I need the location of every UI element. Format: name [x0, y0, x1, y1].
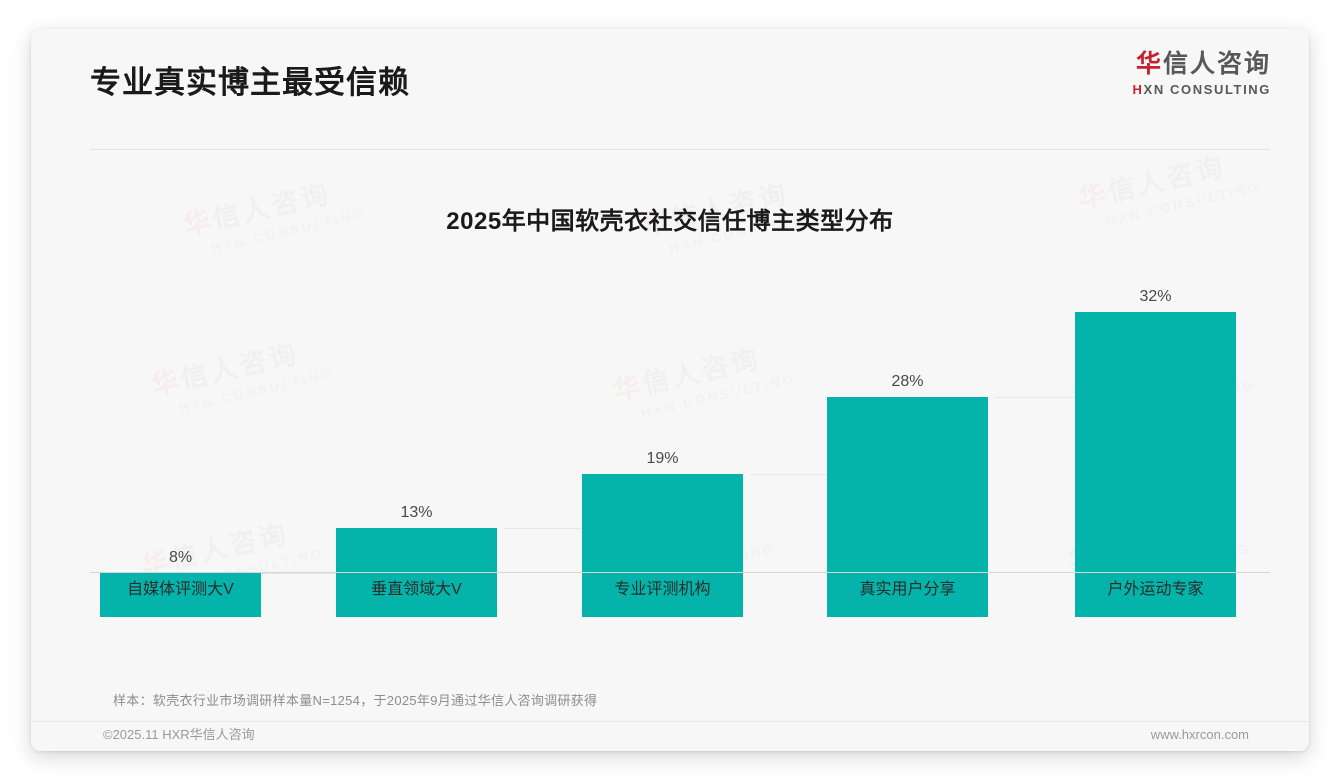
category-label-4: 户外运动专家 — [1075, 582, 1236, 598]
bar-value-label-4: 32% — [1075, 289, 1236, 305]
header-divider — [90, 149, 1270, 150]
slide-card: 华信人咨询 HXN CONSULTING 华信人咨询 HXN CONSULTIN… — [31, 29, 1309, 751]
slide-header: 专业真实博主最受信赖 华信人咨询 HXN CONSULTING — [31, 29, 1309, 124]
chart-plot-area: 8% 13% 19% 28% 32% — [90, 244, 1270, 574]
bar-value-label-0: 8% — [100, 550, 261, 566]
connector-line — [504, 528, 584, 529]
brand-logo: 华信人咨询 HXN CONSULTING — [1133, 52, 1271, 96]
sample-footnote: 样本：软壳衣行业市场调研样本量N=1254，于2025年9月通过华信人咨询调研获… — [113, 690, 597, 709]
website-text: www.hxrcon.com — [1151, 719, 1249, 750]
logo-chinese: 华信人咨询 — [1133, 52, 1271, 77]
category-label-2: 专业评测机构 — [582, 582, 743, 598]
bar-value-label-1: 13% — [336, 505, 497, 521]
bar-value-label-2: 19% — [582, 451, 743, 467]
x-axis-line — [90, 572, 1270, 573]
category-label-0: 自媒体评测大V — [100, 582, 261, 598]
copyright-text: ©2025.11 HXR华信人咨询 — [103, 719, 255, 750]
connector-line — [994, 397, 1075, 398]
logo-english: HXN CONSULTING — [1133, 83, 1271, 96]
connector-line — [750, 474, 827, 475]
chart-title: 2025年中国软壳衣社交信任博主类型分布 — [31, 201, 1309, 236]
connector-line — [261, 573, 336, 574]
category-label-3: 真实用户分享 — [827, 582, 988, 598]
bar-value-label-3: 28% — [827, 374, 988, 390]
page-title: 专业真实博主最受信赖 — [90, 57, 410, 102]
category-label-1: 垂直领域大V — [336, 582, 497, 598]
